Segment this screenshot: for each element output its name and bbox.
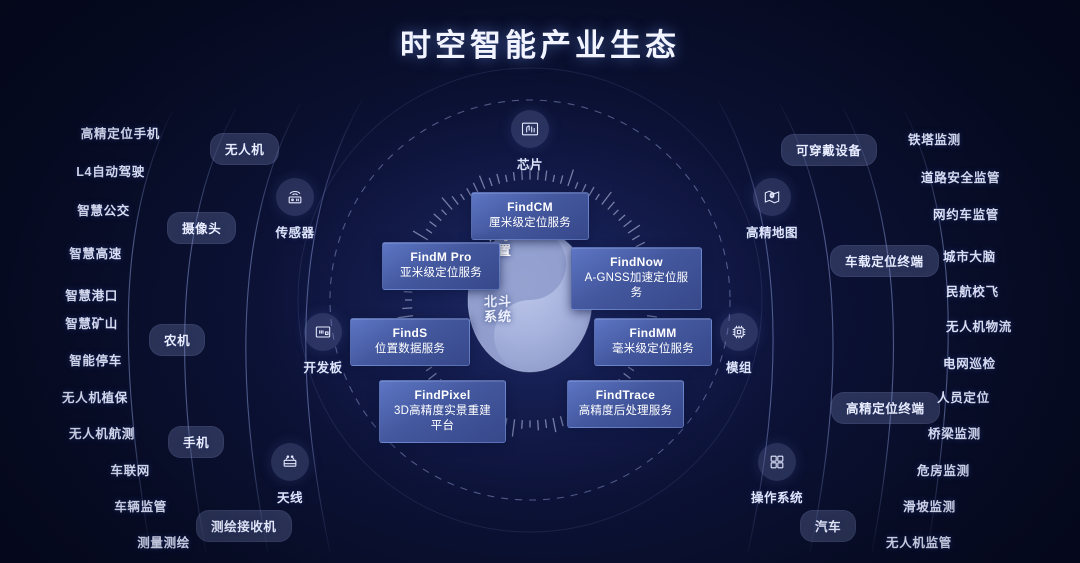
leaf-label-right-11[interactable]: 滑坡监测 — [903, 496, 956, 515]
product-card-findm-pro[interactable]: FindM Pro 亚米级定位服务 — [382, 242, 500, 290]
leaf-label-left-5[interactable]: 智慧港口 — [65, 285, 118, 304]
hd-map-icon — [753, 178, 791, 216]
icon-node-label: 天线 — [253, 487, 327, 506]
leaf-label-right-7[interactable]: 电网巡检 — [943, 353, 996, 372]
icon-node-dev-board[interactable]: 开发板 — [286, 313, 360, 376]
page-title: 时空智能产业生态 — [0, 20, 1080, 65]
pill-right-2[interactable]: 车载定位终端 — [830, 245, 939, 277]
product-name: FindPixel — [390, 388, 495, 403]
leaf-label-right-1[interactable]: 铁塔监测 — [908, 129, 961, 148]
icon-node-label: 芯片 — [493, 154, 567, 173]
icon-node-label: 传感器 — [258, 222, 332, 241]
icon-node-label: 开发板 — [286, 357, 360, 376]
pill-right-4[interactable]: 汽车 — [800, 510, 856, 542]
leaf-label-right-10[interactable]: 危房监测 — [917, 460, 970, 479]
product-card-findmm[interactable]: FindMM 毫米级定位服务 — [594, 318, 712, 366]
dev-board-icon — [304, 313, 342, 351]
pill-right-3[interactable]: 高精定位终端 — [831, 392, 940, 424]
leaf-label-left-12[interactable]: 测量测绘 — [137, 532, 190, 551]
leaf-label-left-8[interactable]: 无人机植保 — [62, 387, 128, 406]
leaf-label-left-2[interactable]: L4自动驾驶 — [76, 161, 145, 180]
leaf-label-right-4[interactable]: 城市大脑 — [943, 246, 996, 265]
icon-node-sensor[interactable]: 传感器 — [258, 178, 332, 241]
icon-node-operating-system[interactable]: 操作系统 — [740, 443, 814, 506]
product-desc: 厘米级定位服务 — [482, 216, 578, 231]
product-desc: 高精度后处理服务 — [578, 404, 673, 419]
core-bottom-line1: 北斗 — [445, 294, 551, 309]
chip-die-icon — [511, 110, 549, 148]
leaf-label-left-4[interactable]: 智慧高速 — [69, 243, 122, 262]
ecosystem-diagram: 时空智能产业生态 千寻 位置 北斗 系统 FindCM 厘米级定位服务 Find… — [0, 0, 1080, 563]
icon-node-chip[interactable]: 芯片 — [493, 110, 567, 173]
icon-node-label: 高精地图 — [735, 222, 809, 241]
pill-left-1[interactable]: 无人机 — [210, 133, 279, 165]
leaf-label-left-3[interactable]: 智慧公交 — [77, 200, 130, 219]
operating-system-icon — [758, 443, 796, 481]
leaf-label-right-9[interactable]: 桥梁监测 — [928, 423, 981, 442]
icon-node-antenna[interactable]: 天线 — [253, 443, 327, 506]
product-card-findcm[interactable]: FindCM 厘米级定位服务 — [471, 192, 589, 240]
product-card-findnow[interactable]: FindNow A-GNSS加速定位服务 — [571, 247, 702, 310]
leaf-label-left-11[interactable]: 车辆监管 — [114, 496, 167, 515]
product-desc: 位置数据服务 — [361, 342, 459, 357]
leaf-label-left-6[interactable]: 智慧矿山 — [65, 313, 118, 332]
product-desc: 毫米级定位服务 — [605, 342, 701, 357]
pill-left-3[interactable]: 农机 — [149, 324, 205, 356]
leaf-label-right-6[interactable]: 无人机物流 — [946, 316, 1012, 335]
product-name: FindNow — [582, 255, 691, 270]
product-desc: 亚米级定位服务 — [393, 266, 489, 281]
pill-left-5[interactable]: 测绘接收机 — [196, 510, 292, 542]
product-card-findpixel[interactable]: FindPixel 3D高精度实景重建平台 — [379, 380, 506, 443]
leaf-label-right-2[interactable]: 道路安全监管 — [921, 167, 1000, 186]
leaf-label-right-8[interactable]: 人员定位 — [937, 387, 990, 406]
product-name: FindCM — [482, 200, 578, 215]
product-card-findtrace[interactable]: FindTrace 高精度后处理服务 — [567, 380, 684, 428]
product-name: FindS — [361, 326, 459, 341]
product-desc: A-GNSS加速定位服务 — [582, 271, 691, 301]
product-desc: 3D高精度实景重建平台 — [390, 404, 495, 434]
product-name: FindMM — [605, 326, 701, 341]
icon-node-module[interactable]: 模组 — [702, 313, 776, 376]
antenna-icon — [271, 443, 309, 481]
icon-node-label: 操作系统 — [740, 487, 814, 506]
module-chip-icon — [720, 313, 758, 351]
pill-right-1[interactable]: 可穿戴设备 — [781, 134, 877, 166]
leaf-label-left-7[interactable]: 智能停车 — [69, 350, 122, 369]
icon-node-hd-map[interactable]: 高精地图 — [735, 178, 809, 241]
leaf-label-right-3[interactable]: 网约车监管 — [933, 204, 999, 223]
pill-left-4[interactable]: 手机 — [168, 426, 224, 458]
leaf-label-right-12[interactable]: 无人机监管 — [886, 532, 952, 551]
icon-node-label: 模组 — [702, 357, 776, 376]
leaf-label-left-9[interactable]: 无人机航测 — [69, 423, 135, 442]
pill-left-2[interactable]: 摄像头 — [167, 212, 236, 244]
leaf-label-right-5[interactable]: 民航校飞 — [946, 281, 999, 300]
product-card-finds[interactable]: FindS 位置数据服务 — [350, 318, 470, 366]
product-name: FindM Pro — [393, 250, 489, 265]
leaf-label-left-1[interactable]: 高精定位手机 — [81, 123, 160, 142]
leaf-label-left-10[interactable]: 车联网 — [110, 460, 150, 479]
product-name: FindTrace — [578, 388, 673, 403]
sensor-icon — [276, 178, 314, 216]
